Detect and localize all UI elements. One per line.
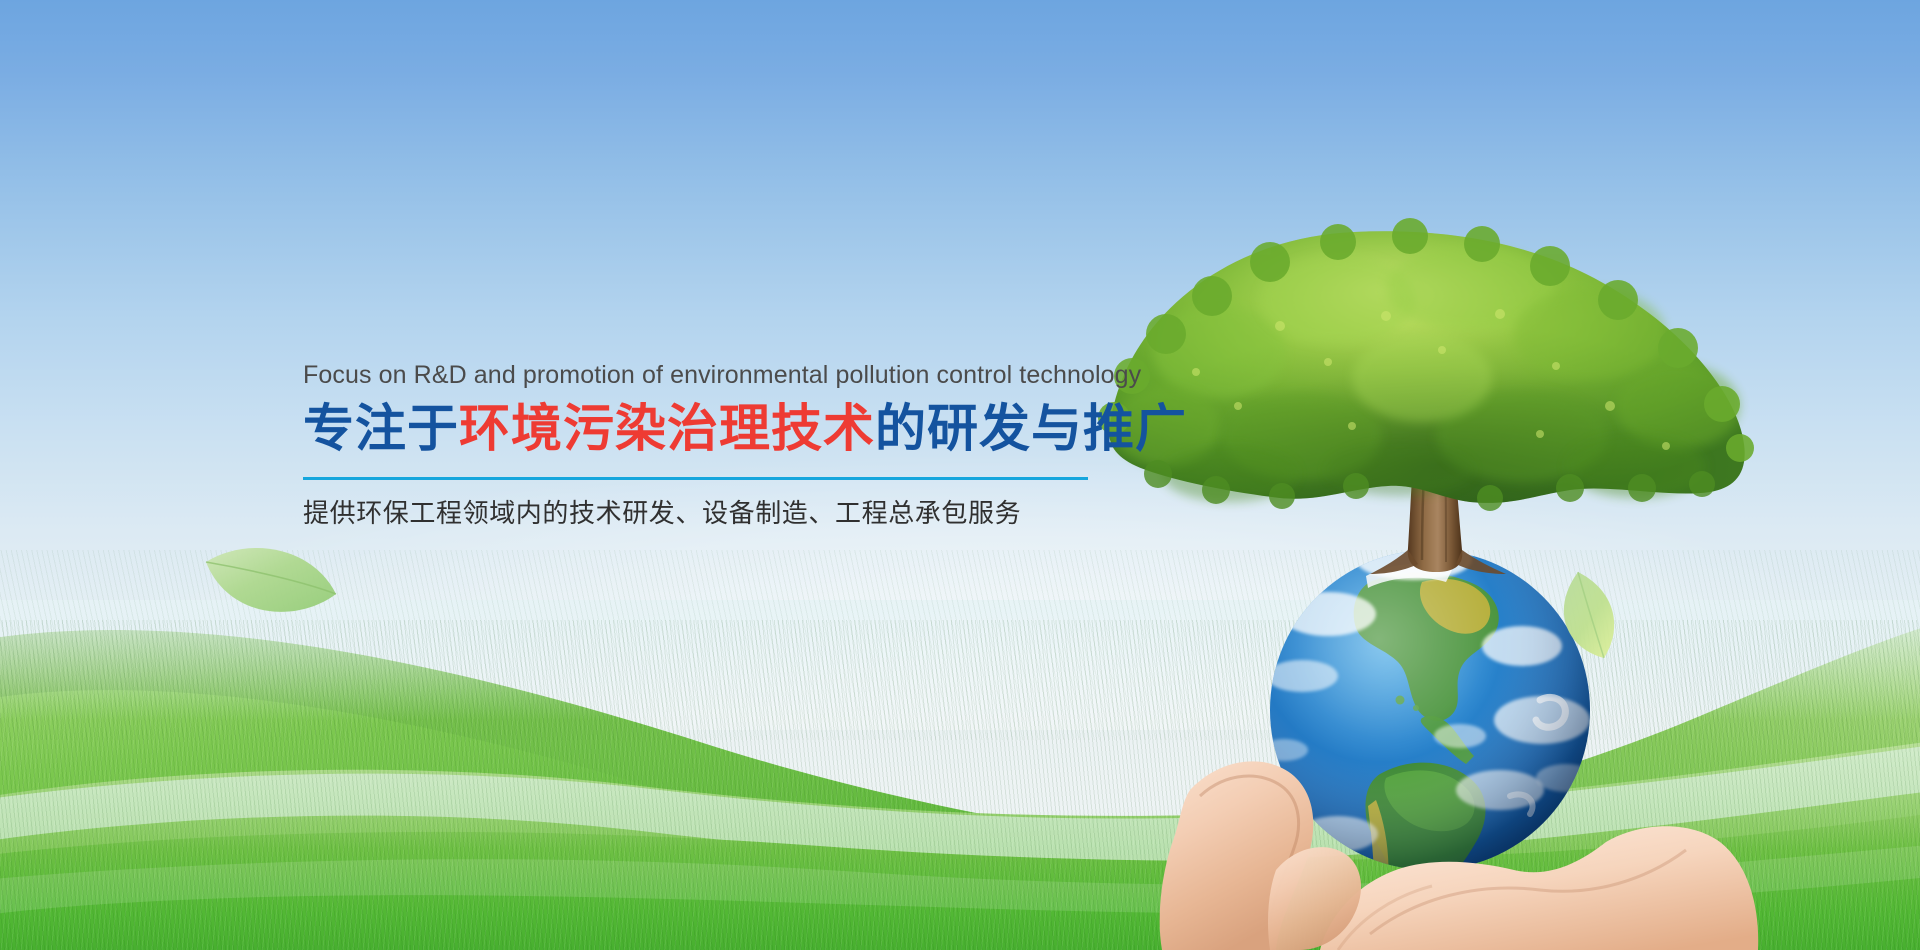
eyebrow-text: Focus on R&D and promotion of environmen… xyxy=(303,360,1103,391)
banner-copy-block: Focus on R&D and promotion of environmen… xyxy=(303,360,1103,531)
headline-segment-suffix: 的研发与推广 xyxy=(875,400,1187,457)
hero-banner: Focus on R&D and promotion of environmen… xyxy=(0,0,1920,950)
headline-segment-highlight: 环境污染治理技术 xyxy=(459,400,875,457)
page-title: 专注于环境污染治理技术的研发与推广 xyxy=(303,399,1103,459)
subtitle-text: 提供环保工程领域内的技术研发、设备制造、工程总承包服务 xyxy=(303,497,1103,531)
headline-divider xyxy=(303,477,1088,480)
headline-segment-prefix: 专注于 xyxy=(303,400,459,457)
